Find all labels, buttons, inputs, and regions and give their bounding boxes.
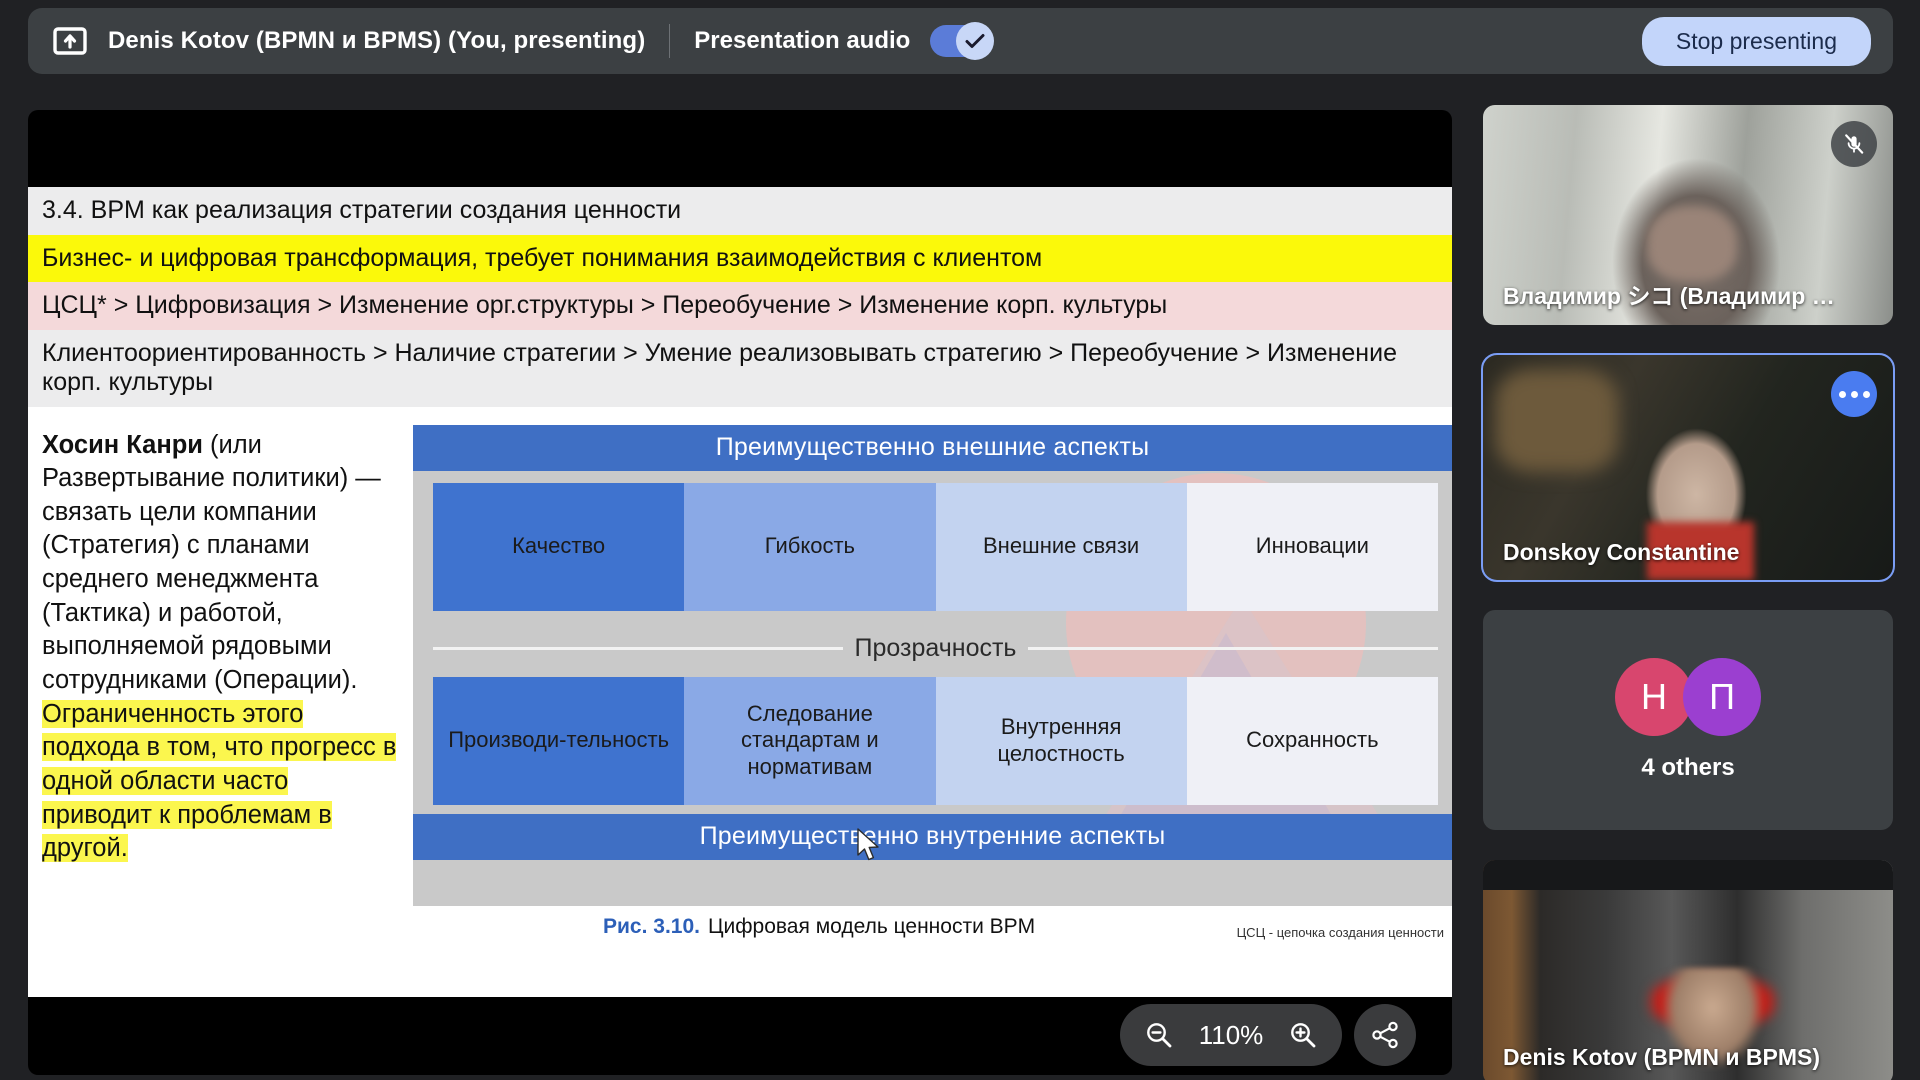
- left-text-highlighted: Ограниченность этого подхода в том, что …: [42, 700, 396, 863]
- cell-external-links: Внешние связи: [936, 483, 1187, 611]
- share-icon[interactable]: [1354, 1004, 1416, 1066]
- zoom-out-icon[interactable]: [1134, 1010, 1184, 1060]
- participant-tile-denis[interactable]: Denis Kotov (BPMN и BPMS): [1483, 860, 1893, 1080]
- internal-aspect-cells: Производи-тельность Следование стандарта…: [433, 677, 1438, 805]
- toolbar-divider: [669, 24, 670, 58]
- others-avatars: Н П: [1615, 658, 1761, 736]
- divider-line-left: [433, 647, 843, 650]
- divider-line-right: [1028, 647, 1438, 650]
- cell-quality: Качество: [433, 483, 684, 611]
- slide-title: 3.4. BPM как реализация стратегии создан…: [28, 187, 1452, 235]
- cell-innovation: Инновации: [1187, 483, 1438, 611]
- slide-highlight-line: Бизнес- и цифровая трансформация, требуе…: [28, 235, 1452, 283]
- cell-internal-integrity: Внутренняя целостность: [936, 677, 1187, 805]
- figure-number: Рис. 3.10.: [603, 915, 700, 939]
- band-internal-aspects: Преимущественно внутренние аспекты: [413, 814, 1452, 860]
- mic-muted-icon: [1831, 121, 1877, 167]
- slide-chain-grey: Клиентоориентированность > Наличие страт…: [28, 330, 1452, 407]
- left-text-rest: (или Развертывание политики) — связать ц…: [42, 431, 381, 695]
- participant-name: Donskoy Constantine: [1503, 539, 1739, 566]
- participant-tiles: Владимир シコ (Владимир … Donskoy Constant…: [1483, 105, 1893, 1080]
- zoom-level-value: 110%: [1190, 1020, 1272, 1051]
- cell-standards-compliance: Следование стандартам и нормативам: [684, 677, 935, 805]
- participant-tile-others[interactable]: Н П 4 others: [1483, 610, 1893, 830]
- slide-body: Хосин Канри (или Развертывание политики)…: [28, 407, 1452, 952]
- figure-canvas: Преимущественно внешние аспекты Качество…: [413, 425, 1452, 906]
- figure-caption-text: Цифровая модель ценности BPM: [708, 915, 1035, 939]
- transparency-label: Прозрачность: [855, 634, 1017, 663]
- avatar: П: [1683, 658, 1761, 736]
- band-external-aspects: Преимущественно внешние аспекты: [413, 425, 1452, 471]
- presentation-toolbar: Denis Kotov (BPMN и BPMS) (You, presenti…: [28, 8, 1893, 74]
- others-count-label: 4 others: [1641, 754, 1734, 782]
- cell-flexibility: Гибкость: [684, 483, 935, 611]
- mouse-cursor: [856, 828, 882, 869]
- video-letterbox: [1483, 860, 1893, 890]
- stop-presenting-button[interactable]: Stop presenting: [1642, 17, 1871, 66]
- value-model-figure: Преимущественно внешние аспекты Качество…: [413, 407, 1452, 952]
- slide-left-text: Хосин Канри (или Развертывание политики)…: [28, 407, 413, 952]
- left-text-lead: Хосин Канри: [42, 431, 203, 459]
- external-aspect-cells: Качество Гибкость Внешние связи Инноваци…: [433, 483, 1438, 611]
- figure-footnote: ЦСЦ - цепочка создания ценности: [1237, 925, 1444, 940]
- present-screen-icon: [50, 21, 90, 61]
- presentation-audio-label: Presentation audio: [694, 27, 910, 55]
- cell-productivity: Производи-тельность: [433, 677, 684, 805]
- participant-name: Владимир シコ (Владимир …: [1503, 277, 1835, 311]
- presentation-audio-toggle[interactable]: [930, 25, 992, 57]
- shared-screen-stage[interactable]: 3.4. BPM как реализация стратегии создан…: [28, 110, 1452, 1075]
- participant-tile-donskoy[interactable]: Donskoy Constantine: [1483, 355, 1893, 580]
- participant-name: Denis Kotov (BPMN и BPMS): [1503, 1044, 1820, 1071]
- zoom-in-icon[interactable]: [1278, 1010, 1328, 1060]
- cell-preservation: Сохранность: [1187, 677, 1438, 805]
- presentation-slide: 3.4. BPM как реализация стратегии создан…: [28, 187, 1452, 997]
- zoom-pill: 110%: [1120, 1004, 1342, 1066]
- slide-chain-pink: ЦСЦ* > Цифровизация > Изменение орг.стру…: [28, 282, 1452, 330]
- participant-tile-vladimir[interactable]: Владимир シコ (Владимир …: [1483, 105, 1893, 325]
- transparency-divider: Прозрачность: [433, 631, 1438, 667]
- toggle-knob: [956, 22, 994, 60]
- presenter-name: Denis Kotov (BPMN и BPMS) (You, presenti…: [108, 27, 645, 55]
- avatar: Н: [1615, 658, 1693, 736]
- check-icon: [965, 33, 985, 49]
- more-options-icon[interactable]: [1831, 371, 1877, 417]
- meeting-presentation-screen: Denis Kotov (BPMN и BPMS) (You, presenti…: [0, 0, 1920, 1080]
- slide-zoom-controls: 110%: [1120, 1004, 1416, 1066]
